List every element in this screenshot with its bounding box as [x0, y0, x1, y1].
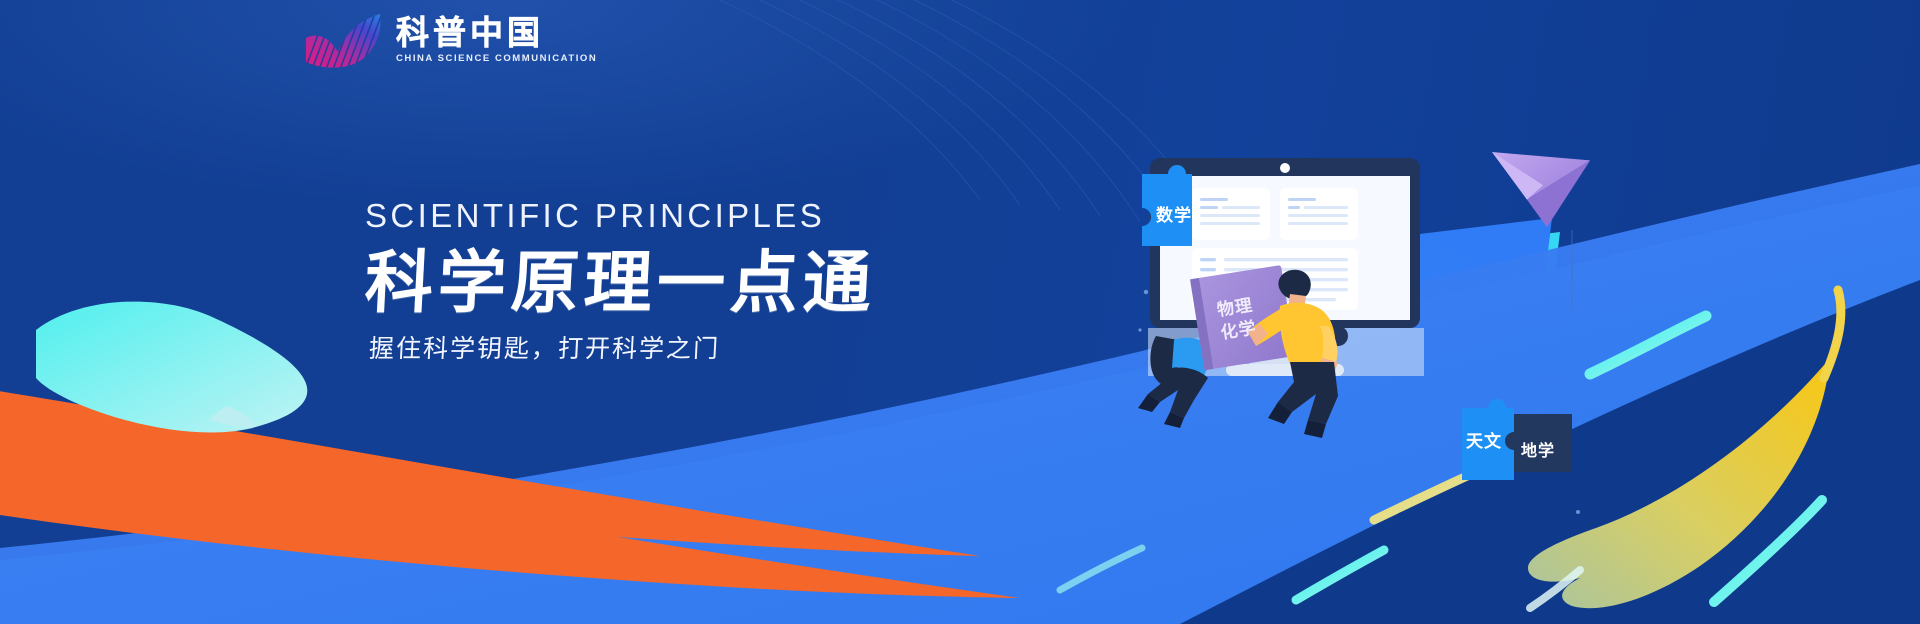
screen-card-left	[1192, 188, 1270, 240]
promo-banner: 科普中国 CHINA SCIENCE COMMUNICATION SCIENTI…	[0, 0, 1920, 624]
logo-name-en: CHINA SCIENCE COMMUNICATION	[396, 52, 597, 66]
illustration	[1130, 150, 1610, 570]
background-decoration	[0, 0, 1920, 624]
puzzle-geo	[1505, 414, 1572, 472]
monitor-camera	[1280, 163, 1290, 173]
headline-subtitle: 握住科学钥匙，打开科学之门	[368, 332, 877, 366]
screen-card-right	[1280, 188, 1358, 240]
headline-block: SCIENTIFIC PRINCIPLES 科学原理一点通 握住科学钥匙，打开科…	[365, 196, 876, 366]
headline-chinese: 科学原理一点通	[363, 242, 878, 326]
logo[interactable]: 科普中国 CHINA SCIENCE COMMUNICATION	[300, 12, 597, 72]
logo-bird-mark	[300, 12, 392, 72]
puzzle-math	[1142, 165, 1192, 246]
headline-english: SCIENTIFIC PRINCIPLES	[365, 196, 876, 236]
illustration-art	[1130, 150, 1610, 570]
logo-name-cn: 科普中国	[396, 16, 597, 50]
